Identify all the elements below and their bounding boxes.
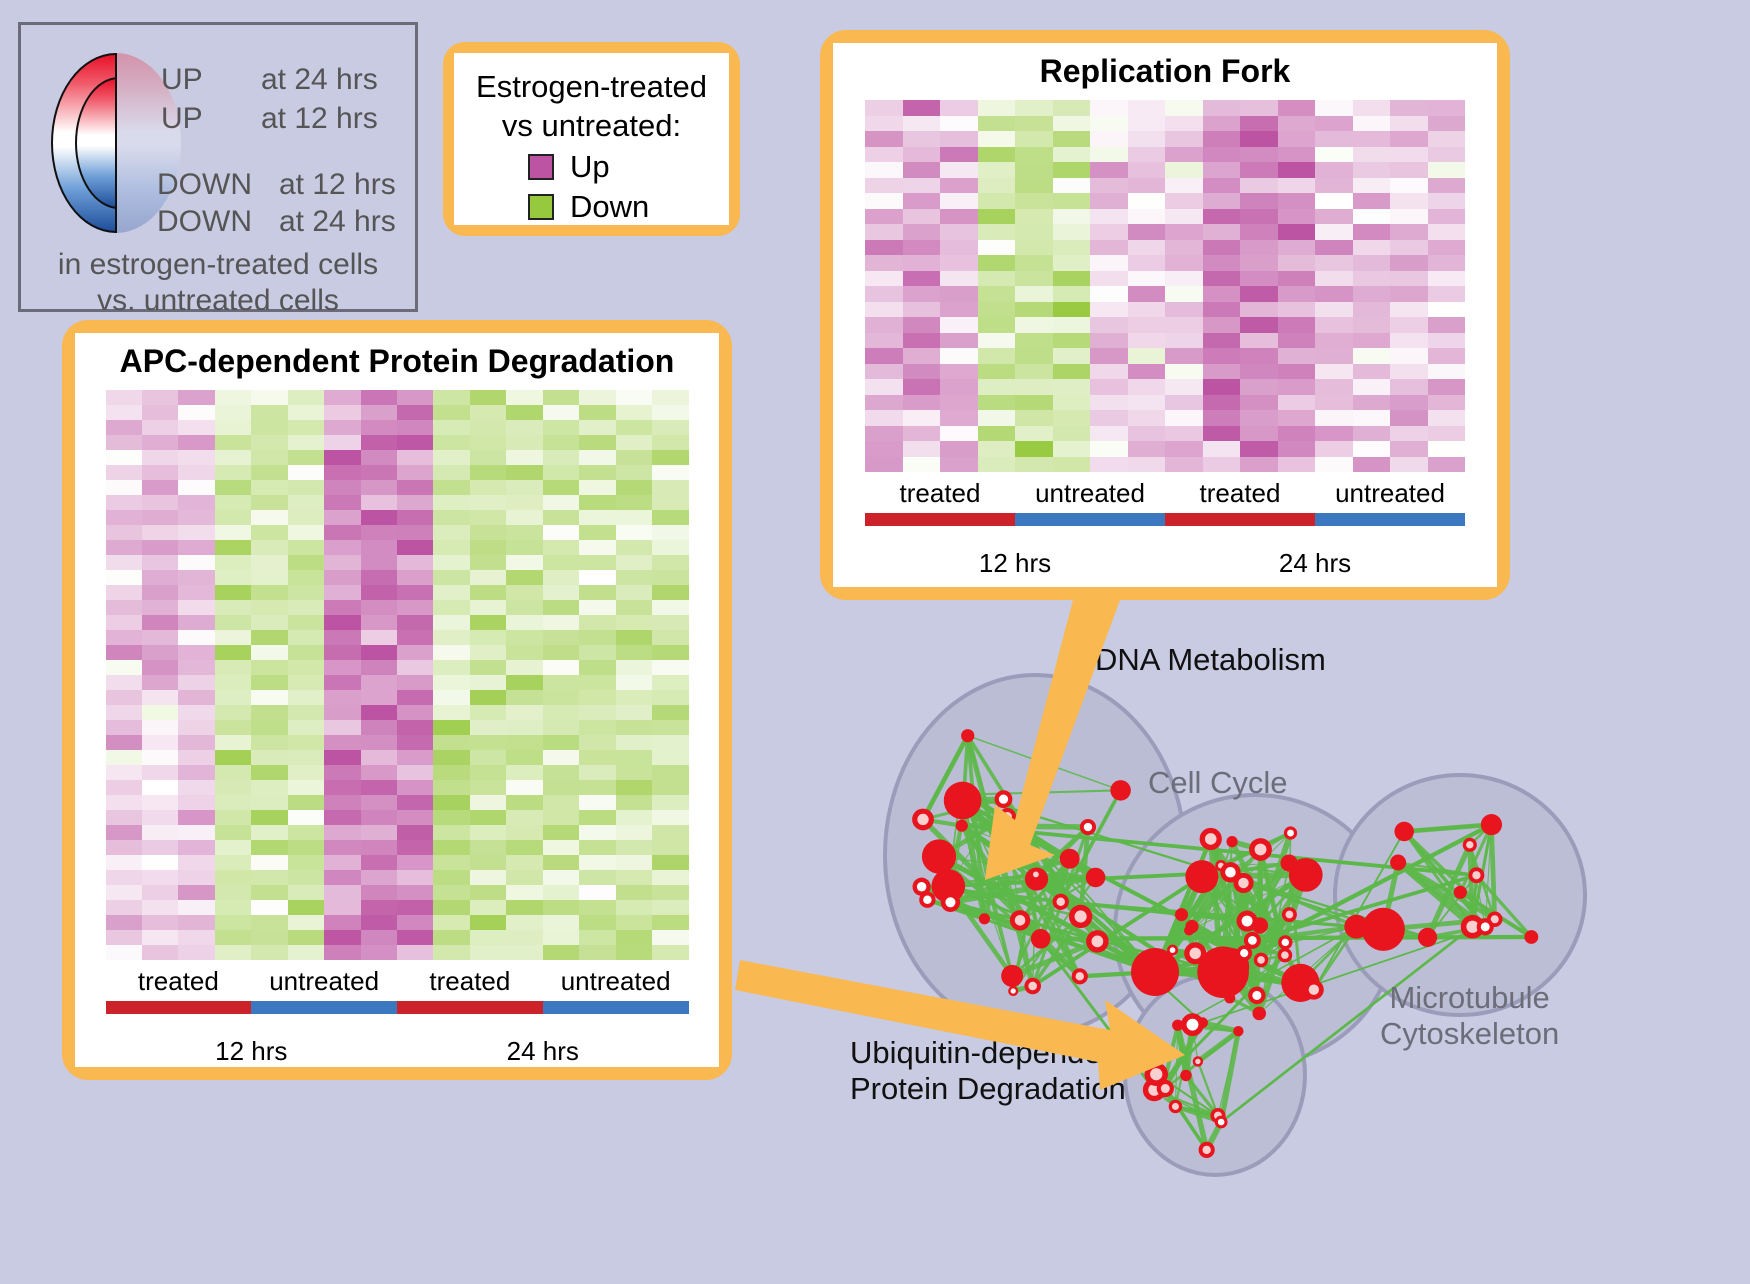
- heatmap-cell: [579, 780, 615, 795]
- heatmap-cell: [1428, 348, 1466, 364]
- heatmap-cell: [616, 630, 652, 645]
- heatmap-cell: [616, 735, 652, 750]
- network-node[interactable]: [1463, 838, 1477, 852]
- heatmap-cell: [579, 540, 615, 555]
- heatmap-cell: [506, 450, 542, 465]
- heatmap-cell: [1390, 178, 1428, 194]
- heatmap-cell: [288, 495, 324, 510]
- col-label-treated-12: treated: [865, 472, 1015, 513]
- network-node[interactable]: [1394, 822, 1413, 841]
- network-node[interactable]: [1184, 942, 1206, 964]
- heatmap-cell: [178, 870, 214, 885]
- network-node[interactable]: [1224, 993, 1235, 1004]
- heatmap-cell: [978, 209, 1016, 225]
- heatmap-cell: [1165, 116, 1203, 132]
- heatmap-cell: [1015, 457, 1053, 473]
- heatmap-cell: [361, 510, 397, 525]
- bar-seg-untreated-12: [251, 1001, 397, 1014]
- heatmap-cell: [470, 870, 506, 885]
- heatmap-cell: [506, 435, 542, 450]
- network-node[interactable]: [1157, 1080, 1174, 1097]
- network-node[interactable]: [1233, 873, 1253, 893]
- network-node[interactable]: [1280, 854, 1297, 871]
- panel-apc-title: APC-dependent Protein Degradation: [120, 343, 675, 380]
- network-node[interactable]: [1362, 908, 1405, 951]
- heatmap-cell: [579, 525, 615, 540]
- heatmap-cell: [1428, 116, 1466, 132]
- heatmap-cell: [506, 600, 542, 615]
- network-node[interactable]: [1454, 886, 1467, 899]
- heatmap-cell: [1090, 193, 1128, 209]
- heatmap-cell: [652, 630, 688, 645]
- heatmap-cell: [215, 495, 251, 510]
- timepoint-label-24: 24 hrs: [1165, 540, 1465, 579]
- heatmap-cell: [506, 405, 542, 420]
- heatmap-cell: [178, 705, 214, 720]
- heatmap-cell: [903, 131, 941, 147]
- network-node[interactable]: [1086, 868, 1106, 888]
- up-color-swatch: [528, 154, 554, 180]
- heatmap-cell: [1015, 271, 1053, 287]
- heatmap-cell: [288, 435, 324, 450]
- heatmap-cell: [324, 390, 360, 405]
- heatmap-cell: [397, 660, 433, 675]
- network-node[interactable]: [1086, 930, 1109, 953]
- network-node[interactable]: [1008, 986, 1018, 996]
- heatmap-cell: [1240, 317, 1278, 333]
- heatmap-cell: [940, 302, 978, 318]
- heatmap-cell: [1090, 100, 1128, 116]
- heatmap-cell: [470, 555, 506, 570]
- network-node[interactable]: [1282, 907, 1297, 922]
- network-node[interactable]: [1252, 1007, 1266, 1021]
- heatmap-cell: [1015, 410, 1053, 426]
- heatmap-cell: [1203, 410, 1241, 426]
- network-node[interactable]: [1468, 867, 1484, 883]
- heatmap-cell: [215, 735, 251, 750]
- heatmap-cell: [579, 405, 615, 420]
- heatmap-cell: [215, 795, 251, 810]
- network-node[interactable]: [1030, 869, 1041, 880]
- heatmap-cell: [288, 690, 324, 705]
- heatmap-cell: [215, 855, 251, 870]
- network-node[interactable]: [1524, 930, 1538, 944]
- network-node[interactable]: [1072, 968, 1088, 984]
- heatmap-cell: [215, 450, 251, 465]
- heatmap-cell: [178, 510, 214, 525]
- network-node[interactable]: [1110, 780, 1130, 800]
- heatmap-cell: [288, 840, 324, 855]
- heatmap-cell: [506, 540, 542, 555]
- heatmap-cell: [397, 420, 433, 435]
- heatmap-cell: [616, 645, 652, 660]
- col-label-treated-24: treated: [1165, 472, 1315, 513]
- heatmap-cell: [215, 480, 251, 495]
- heatmap-cell: [506, 885, 542, 900]
- network-node[interactable]: [1172, 1020, 1183, 1031]
- heatmap-cell: [1390, 395, 1428, 411]
- heatmap-cell: [142, 915, 178, 930]
- heatmap-cell: [616, 810, 652, 825]
- heatmap-cell: [251, 585, 287, 600]
- heatmap-cell: [106, 690, 142, 705]
- network-node[interactable]: [1185, 920, 1198, 933]
- heatmap-cell: [215, 435, 251, 450]
- heatmap-cell: [215, 870, 251, 885]
- col-label-untreated-12: untreated: [1015, 472, 1165, 513]
- network-node[interactable]: [1053, 894, 1069, 910]
- heatmap-cell: [978, 147, 1016, 163]
- network-node[interactable]: [1193, 1056, 1203, 1066]
- network-node[interactable]: [1481, 814, 1502, 835]
- network-node[interactable]: [1001, 835, 1016, 850]
- heatmap-cell: [940, 131, 978, 147]
- heatmap-cell: [1390, 209, 1428, 225]
- network-node[interactable]: [1418, 928, 1437, 947]
- network-node[interactable]: [1185, 860, 1218, 893]
- heatmap-cell: [470, 570, 506, 585]
- panel-replication-fork: Replication Fork treated untreated treat…: [820, 30, 1510, 600]
- heatmap-cell: [616, 540, 652, 555]
- heatmap-cell: [506, 390, 542, 405]
- heatmap-cell: [616, 435, 652, 450]
- heatmap-cell: [903, 224, 941, 240]
- heatmap-cell: [1090, 131, 1128, 147]
- heatmap-cell: [1428, 162, 1466, 178]
- network-node[interactable]: [1200, 828, 1222, 850]
- network-node[interactable]: [912, 809, 934, 831]
- network-node[interactable]: [999, 808, 1016, 825]
- network-node[interactable]: [1199, 1142, 1215, 1158]
- heatmap-cell: [251, 420, 287, 435]
- timepoint-color-bar-apc: [106, 1019, 689, 1028]
- heatmap-cell: [215, 900, 251, 915]
- heatmap-cell: [1390, 410, 1428, 426]
- estrogen-legend-title-line2: vs untreated:: [470, 106, 713, 145]
- heatmap-cell: [940, 100, 978, 116]
- heatmap-cell: [361, 495, 397, 510]
- heatmap-cell: [903, 162, 941, 178]
- heatmap-cell: [865, 131, 903, 147]
- heatmap-cell: [433, 945, 469, 960]
- network-node[interactable]: [1169, 1100, 1182, 1113]
- heatmap-cell: [1315, 240, 1353, 256]
- heatmap-cell: [616, 525, 652, 540]
- heatmap-cell: [433, 495, 469, 510]
- heatmap-cell: [1240, 255, 1278, 271]
- heatmap-cell: [178, 525, 214, 540]
- network-node[interactable]: [1249, 838, 1272, 861]
- heatmap-cell: [397, 915, 433, 930]
- heatmap-cell: [251, 630, 287, 645]
- heatmap-cell: [1053, 100, 1091, 116]
- network-node[interactable]: [1010, 910, 1030, 930]
- heatmap-cell: [652, 585, 688, 600]
- heatmap-cell: [940, 193, 978, 209]
- axis-replication-column-labels: treated untreated treated untreated: [865, 472, 1465, 513]
- heatmap-cell: [1165, 193, 1203, 209]
- heatmap-cell: [1240, 364, 1278, 380]
- network-node[interactable]: [913, 878, 931, 896]
- heatmap-cell: [1240, 271, 1278, 287]
- heatmap-cell: [142, 495, 178, 510]
- heatmap-cell: [1353, 224, 1391, 240]
- heatmap-cell: [1128, 457, 1166, 473]
- network-node[interactable]: [1001, 965, 1023, 987]
- heatmap-cell: [1240, 457, 1278, 473]
- timepoint-label-24: 24 hrs: [397, 1028, 689, 1067]
- heatmap-cell: [1090, 379, 1128, 395]
- heatmap-cell: [865, 209, 903, 225]
- heatmap-cell: [978, 426, 1016, 442]
- heatmap-cell: [903, 317, 941, 333]
- heatmap-cell: [215, 585, 251, 600]
- network-node[interactable]: [954, 795, 965, 806]
- heatmap-cell: [543, 615, 579, 630]
- heatmap-cell: [903, 302, 941, 318]
- heatmap-cell: [142, 675, 178, 690]
- network-diagram: DNA Metabolism Cell Cycle Microtubule Cy…: [800, 620, 1750, 1279]
- heatmap-cell: [543, 780, 579, 795]
- heatmap-cell: [324, 630, 360, 645]
- heatmap-cell: [506, 795, 542, 810]
- heatmap-cell: [1165, 100, 1203, 116]
- heatmap-cell: [178, 930, 214, 945]
- heatmap-cell: [1090, 286, 1128, 302]
- heatmap-cell: [543, 435, 579, 450]
- network-node[interactable]: [995, 790, 1013, 808]
- heatmap-cell: [142, 795, 178, 810]
- heatmap-cell: [106, 930, 142, 945]
- heatmap-cell: [543, 750, 579, 765]
- heatmap-cell: [251, 525, 287, 540]
- network-node[interactable]: [1278, 948, 1293, 963]
- heatmap-cell: [579, 570, 615, 585]
- heatmap-cell: [940, 240, 978, 256]
- heatmap-cell: [288, 450, 324, 465]
- heatmap-cell: [215, 720, 251, 735]
- heatmap-cell: [361, 525, 397, 540]
- heatmap-cell: [1278, 317, 1316, 333]
- heatmap-cell: [1278, 224, 1316, 240]
- heatmap-cell: [470, 720, 506, 735]
- heatmap-cell: [579, 945, 615, 960]
- heatmap-cell: [1315, 209, 1353, 225]
- heatmap-cell: [543, 525, 579, 540]
- heatmap-cell: [470, 585, 506, 600]
- circle-legend-footer-line1: in estrogen-treated cells: [21, 247, 415, 283]
- heatmap-cell: [543, 405, 579, 420]
- heatmap-cell: [397, 720, 433, 735]
- heatmap-cell: [1090, 178, 1128, 194]
- heatmap-cell: [106, 615, 142, 630]
- heatmap-cell: [543, 570, 579, 585]
- network-node[interactable]: [1215, 1116, 1228, 1129]
- heatmap-cell: [288, 780, 324, 795]
- heatmap-cell: [506, 525, 542, 540]
- heatmap-cell: [1053, 147, 1091, 163]
- heatmap-cell: [361, 825, 397, 840]
- heatmap-cell: [361, 600, 397, 615]
- heatmap-cell: [324, 825, 360, 840]
- heatmap-cell: [1278, 302, 1316, 318]
- heatmap-cell: [178, 915, 214, 930]
- network-node[interactable]: [1284, 826, 1297, 839]
- network-node[interactable]: [1226, 836, 1237, 847]
- heatmap-cell: [1053, 131, 1091, 147]
- heatmap-cell: [288, 870, 324, 885]
- heatmap-cell: [1240, 286, 1278, 302]
- heatmap-cell: [106, 840, 142, 855]
- network-node[interactable]: [1131, 948, 1179, 996]
- network-node[interactable]: [922, 839, 956, 873]
- heatmap-cell: [215, 540, 251, 555]
- heatmap-cell: [433, 435, 469, 450]
- network-node[interactable]: [1390, 855, 1406, 871]
- network-node[interactable]: [1175, 908, 1188, 921]
- heatmap-cell: [361, 945, 397, 960]
- heatmap-cell: [903, 100, 941, 116]
- heatmap-cell: [1203, 317, 1241, 333]
- heatmap-cell: [1428, 224, 1466, 240]
- heatmap-cell: [142, 750, 178, 765]
- heatmap-cell: [215, 465, 251, 480]
- heatmap-cell: [1390, 333, 1428, 349]
- heatmap-cell: [1203, 395, 1241, 411]
- heatmap-cell: [324, 945, 360, 960]
- network-node[interactable]: [956, 820, 968, 832]
- heatmap-cell: [1353, 379, 1391, 395]
- heatmap-cell: [1353, 333, 1391, 349]
- network-node[interactable]: [1181, 1013, 1204, 1036]
- heatmap-cell: [142, 420, 178, 435]
- heatmap-cell: [106, 705, 142, 720]
- network-node[interactable]: [1304, 980, 1324, 1000]
- heatmap-cell: [506, 945, 542, 960]
- heatmap-cell: [616, 675, 652, 690]
- heatmap-cell: [1128, 441, 1166, 457]
- heatmap-cell: [106, 495, 142, 510]
- heatmap-cell: [324, 450, 360, 465]
- heatmap-cell: [1165, 410, 1203, 426]
- heatmap-cell: [1165, 162, 1203, 178]
- heatmap-cell: [1053, 302, 1091, 318]
- heatmap-cell: [324, 585, 360, 600]
- heatmap-cell: [1428, 364, 1466, 380]
- heatmap-cell: [470, 615, 506, 630]
- heatmap-cell: [215, 945, 251, 960]
- heatmap-cell: [543, 915, 579, 930]
- heatmap-cell: [142, 555, 178, 570]
- heatmap-cell: [106, 945, 142, 960]
- heatmap-cell: [1015, 364, 1053, 380]
- heatmap-cell: [1015, 147, 1053, 163]
- heatmap-cell: [324, 810, 360, 825]
- heatmap-cell: [579, 885, 615, 900]
- network-node[interactable]: [1180, 1070, 1191, 1081]
- heatmap-cell: [324, 840, 360, 855]
- heatmap-cell: [579, 690, 615, 705]
- heatmap-cell: [1165, 178, 1203, 194]
- heatmap-cell: [361, 765, 397, 780]
- heatmap-cell: [579, 675, 615, 690]
- heatmap-cell: [178, 405, 214, 420]
- network-node[interactable]: [1254, 953, 1269, 968]
- heatmap-cell: [142, 390, 178, 405]
- heatmap-cell: [470, 660, 506, 675]
- network-node[interactable]: [1209, 953, 1232, 976]
- heatmap-cell: [288, 510, 324, 525]
- heatmap-cell: [397, 810, 433, 825]
- network-node[interactable]: [1031, 929, 1051, 949]
- heatmap-cell: [978, 255, 1016, 271]
- heatmap-cell: [142, 615, 178, 630]
- heatmap-cell: [1015, 286, 1053, 302]
- network-node[interactable]: [1060, 849, 1080, 869]
- heatmap-cell: [903, 193, 941, 209]
- heatmap-cell: [288, 765, 324, 780]
- heatmap-cell: [142, 525, 178, 540]
- heatmap-cell: [251, 795, 287, 810]
- heatmap-cell: [652, 705, 688, 720]
- network-node[interactable]: [1080, 819, 1096, 835]
- timepoint-labels-replication: 12 hrs 24 hrs: [865, 540, 1465, 579]
- heatmap-cell: [1353, 193, 1391, 209]
- heatmap-cell: [978, 317, 1016, 333]
- heatmap-cell: [178, 720, 214, 735]
- network-node[interactable]: [961, 729, 974, 742]
- heatmap-cell: [106, 540, 142, 555]
- heatmap-cell: [579, 855, 615, 870]
- network-node[interactable]: [941, 893, 960, 912]
- heatmap-cell: [543, 600, 579, 615]
- network-node[interactable]: [979, 913, 990, 924]
- heatmap-cell: [433, 615, 469, 630]
- heatmap-cell: [361, 690, 397, 705]
- heatmap-cell: [579, 630, 615, 645]
- heatmap-cell: [215, 930, 251, 945]
- heatmap-cell: [106, 390, 142, 405]
- heatmap-cell: [579, 390, 615, 405]
- heatmap-cell: [652, 525, 688, 540]
- timepoint-color-bar-replication: [865, 531, 1465, 540]
- heatmap-cell: [470, 915, 506, 930]
- heatmap-cell: [324, 570, 360, 585]
- heatmap-cell: [1090, 116, 1128, 132]
- network-node[interactable]: [1069, 905, 1092, 928]
- network-node[interactable]: [1248, 987, 1265, 1004]
- network-node[interactable]: [1244, 932, 1261, 949]
- heatmap-cell: [106, 435, 142, 450]
- heatmap-cell: [178, 780, 214, 795]
- heatmap-cell: [433, 630, 469, 645]
- heatmap-cell: [903, 395, 941, 411]
- heatmap-cell: [433, 840, 469, 855]
- network-node[interactable]: [1024, 978, 1041, 995]
- heatmap-cell: [1128, 193, 1166, 209]
- heatmap-cell: [1128, 333, 1166, 349]
- heatmap-cell: [616, 495, 652, 510]
- heatmap-cell: [433, 525, 469, 540]
- network-node[interactable]: [1278, 935, 1292, 949]
- network-node[interactable]: [1237, 911, 1258, 932]
- heatmap-cell: [324, 675, 360, 690]
- heatmap-cell: [215, 765, 251, 780]
- heatmap-cell: [106, 885, 142, 900]
- heatmap-cell: [251, 660, 287, 675]
- network-node[interactable]: [1233, 1026, 1243, 1036]
- network-node[interactable]: [1477, 918, 1494, 935]
